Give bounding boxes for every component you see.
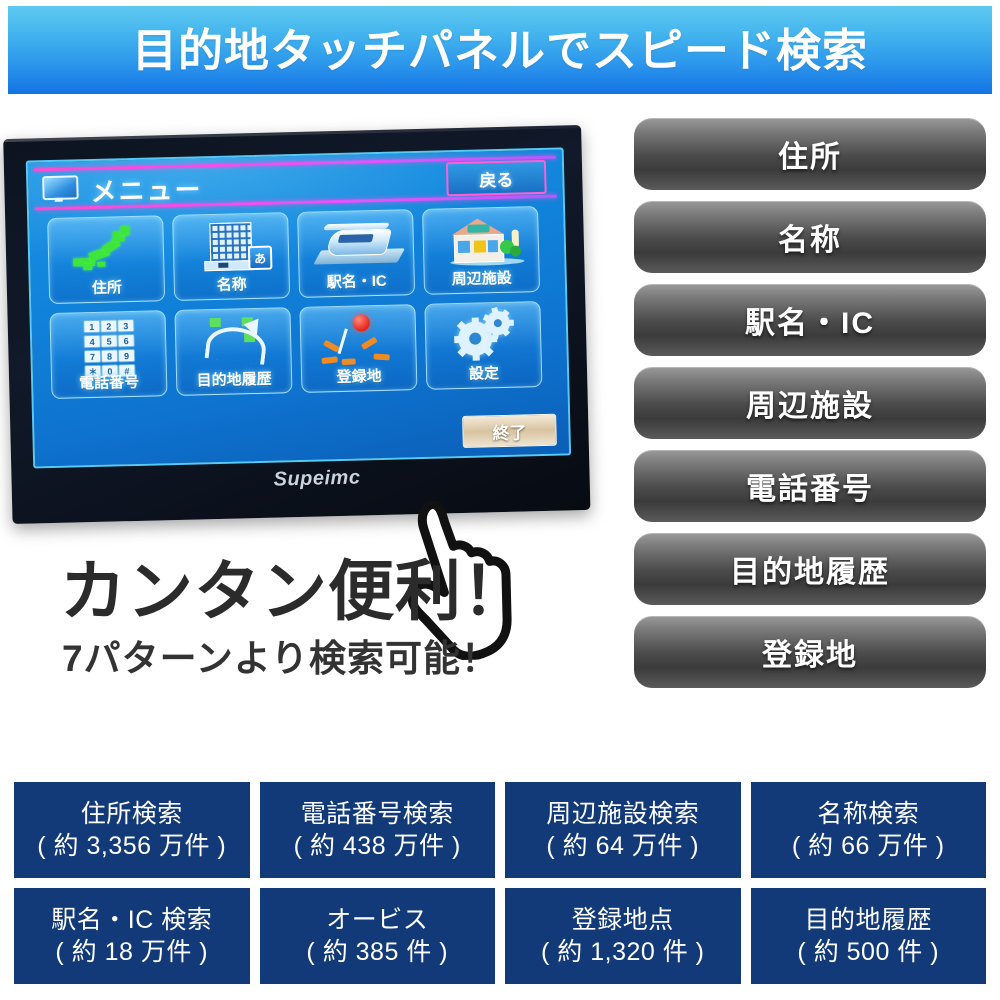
device-screen: メニュー 戻る 住所	[26, 147, 571, 468]
route-history-icon	[176, 314, 291, 371]
keypad-key: 2	[100, 319, 117, 332]
database-stats-grid: 住所検索 ( 約 3,356 万件 ) 電話番号検索 ( 約 438 万件 ) …	[14, 782, 986, 984]
stat-count: ( 約 18 万件 )	[55, 936, 208, 968]
tile-label: 駅名・IC	[300, 269, 414, 293]
gear-tooth	[482, 345, 493, 356]
gears-icon	[426, 308, 541, 365]
search-button-facility[interactable]: 周辺施設	[634, 367, 986, 439]
screen-titlebar: メニュー 戻る	[34, 156, 557, 211]
keypad-key: 9	[118, 349, 135, 362]
screen-tile-facility[interactable]: 周辺施設	[422, 206, 540, 295]
gear-tooth	[501, 309, 510, 318]
screen-exit-button[interactable]: 終了	[462, 414, 557, 448]
train-station-icon	[298, 216, 413, 273]
screen-tile-history[interactable]: 目的地履歴	[174, 307, 292, 396]
keypad-key: 4	[84, 335, 101, 348]
search-button-registered[interactable]: 登録地	[634, 616, 986, 688]
gear-tooth	[454, 335, 463, 342]
stat-cell-orbis: オービス ( 約 385 件 )	[260, 888, 496, 984]
gear-tooth	[501, 328, 510, 337]
header-banner: 目的地タッチパネルでスピード検索	[8, 6, 992, 94]
tile-label: 名称	[175, 272, 289, 296]
keypad-key: 8	[101, 349, 118, 362]
gear-tooth	[472, 351, 479, 360]
keypad-key: 6	[118, 334, 135, 347]
keypad-key: 3	[117, 319, 134, 332]
gear-tooth	[458, 345, 469, 356]
kana-badge: あ	[248, 246, 273, 271]
stat-title: 電話番号検索	[301, 798, 454, 830]
tile-label: 周辺施設	[424, 266, 538, 290]
search-button-history[interactable]: 目的地履歴	[634, 533, 986, 605]
screen-menu-label: メニュー	[90, 169, 203, 209]
screen-back-button[interactable]: 戻る	[446, 160, 547, 196]
tile-label: 登録地	[302, 364, 416, 388]
search-button-station-ic[interactable]: 駅名・IC	[634, 284, 986, 356]
stat-title: 登録地点	[572, 904, 674, 936]
tile-label: 設定	[427, 361, 541, 385]
screen-tile-station[interactable]: 駅名・IC	[297, 209, 415, 298]
stat-cell-station-ic: 駅名・IC 検索 ( 約 18 万件 )	[14, 888, 250, 984]
stat-count: ( 約 1,320 件 )	[541, 936, 705, 968]
screen-tile-name[interactable]: あ 名称	[172, 212, 290, 301]
stat-title: 住所検索	[81, 798, 183, 830]
stat-title: 名称検索	[817, 798, 919, 830]
gps-device-photo: メニュー 戻る 住所	[3, 125, 591, 539]
stat-cell-registered-points: 登録地点 ( 約 1,320 件 )	[505, 888, 741, 984]
stat-title: 目的地履歴	[804, 904, 932, 936]
map-pin-icon	[301, 311, 416, 368]
keypad-key: 7	[84, 350, 101, 363]
screen-tile-registered[interactable]: 登録地	[299, 304, 417, 393]
stat-cell-address: 住所検索 ( 約 3,356 万件 )	[14, 782, 250, 878]
stat-cell-facility: 周辺施設検索 ( 約 64 万件 )	[505, 782, 741, 878]
stat-title: 周辺施設検索	[546, 798, 699, 830]
stat-cell-phone: 電話番号検索 ( 約 438 万件 )	[260, 782, 496, 878]
screen-tile-grid: 住所 あ 名称	[47, 206, 549, 399]
stat-title: 駅名・IC 検索	[51, 904, 212, 936]
gear-tooth	[492, 331, 499, 339]
stat-count: ( 約 3,356 万件 )	[37, 830, 226, 862]
storefront-icon	[423, 213, 538, 270]
stat-count: ( 約 66 万件 )	[792, 830, 945, 862]
headline-sub: 7パターンより検索可能！	[62, 640, 499, 677]
tile-label: 住所	[50, 275, 164, 299]
monitor-icon	[42, 175, 77, 202]
stat-cell-destination-history: 目的地履歴 ( 約 500 件 )	[751, 888, 987, 984]
search-button-name[interactable]: 名称	[634, 201, 986, 273]
search-button-address[interactable]: 住所	[634, 118, 986, 190]
screen-tile-phone[interactable]: 123456789＊0# 電話番号	[49, 310, 167, 399]
left-column: メニュー 戻る 住所	[0, 108, 625, 758]
tile-label: 目的地履歴	[177, 367, 291, 391]
keypad-icon: 123456789＊0#	[51, 317, 166, 374]
screen-tile-settings[interactable]: 設定	[424, 301, 542, 390]
gear-tooth	[457, 321, 468, 332]
stat-title: オービス	[326, 904, 428, 936]
device-brand-label: Supeimc	[273, 466, 360, 491]
screen-tile-address[interactable]: 住所	[47, 215, 165, 304]
headline-main: カンタン便利！	[60, 558, 529, 624]
tile-label: 電話番号	[52, 370, 166, 394]
gear-tooth	[491, 307, 499, 315]
stat-count: ( 約 438 万件 )	[294, 830, 461, 862]
japan-map-icon	[48, 222, 163, 279]
gear-tooth	[482, 314, 491, 322]
search-method-button-stack: 住所 名称 駅名・IC 周辺施設 電話番号 目的地履歴 登録地	[634, 118, 986, 688]
keypad-key: 1	[83, 320, 100, 333]
page-title: 目的地タッチパネルでスピード検索	[132, 28, 868, 73]
stat-count: ( 約 500 件 )	[797, 936, 939, 968]
search-button-phone[interactable]: 電話番号	[634, 450, 986, 522]
device-bezel: メニュー 戻る 住所	[3, 125, 590, 524]
keypad-key: 5	[101, 334, 118, 347]
stat-count: ( 約 385 件 )	[306, 936, 448, 968]
building-icon: あ	[173, 219, 288, 276]
stat-cell-name: 名称検索 ( 約 66 万件 )	[751, 782, 987, 878]
gear-tooth	[506, 320, 513, 326]
stat-count: ( 約 64 万件 )	[546, 830, 699, 862]
gear-tooth	[471, 317, 478, 326]
